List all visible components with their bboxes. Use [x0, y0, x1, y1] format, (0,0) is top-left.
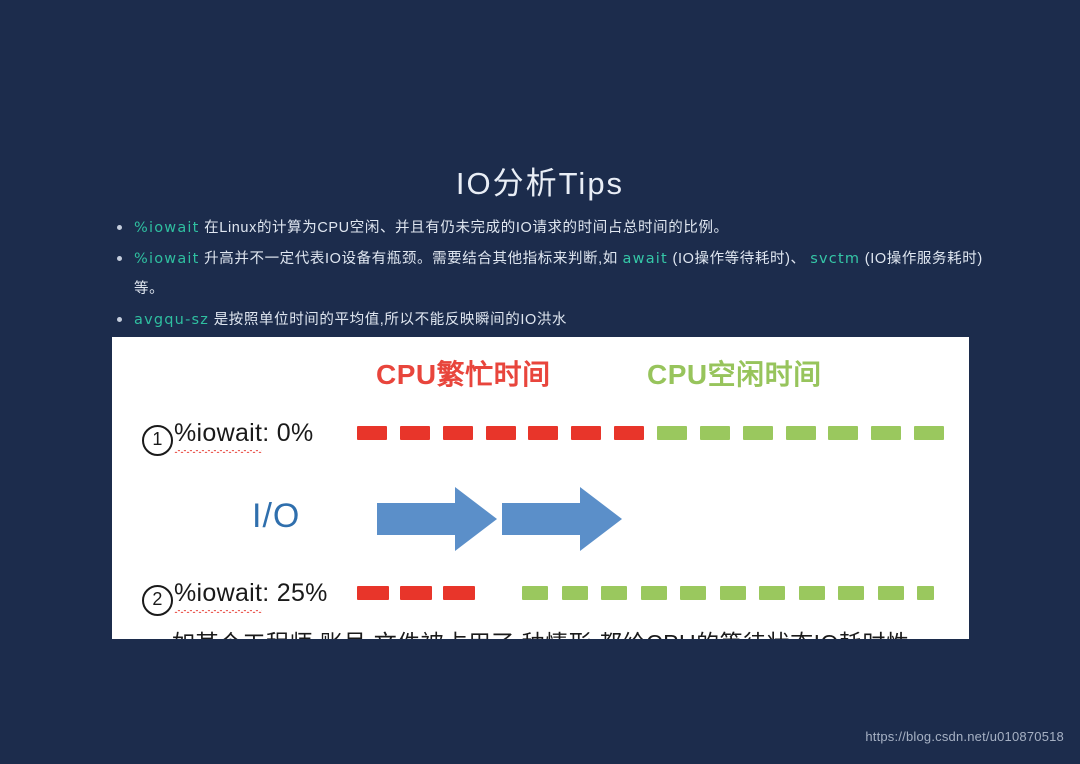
bullet-3-text: 是按照单位时间的平均值,所以不能反映瞬间的IO洪水	[209, 312, 567, 328]
dash-segment-idle	[914, 426, 944, 440]
row-1-value: 0%	[277, 419, 314, 447]
dash-segment-busy	[486, 426, 516, 440]
legend-cpu-busy: CPU繁忙时间	[376, 353, 551, 393]
list-item: avgqu-sz 是按照单位时间的平均值,所以不能反映瞬间的IO洪水	[112, 305, 992, 335]
code-token-iowait: %iowait	[134, 220, 200, 236]
dash-segment-busy	[357, 586, 389, 600]
figure-row-2-timeline	[357, 586, 957, 600]
dash-segment-busy	[357, 426, 387, 440]
dash-segment-idle	[601, 586, 627, 600]
figure-panel: CPU繁忙时间 CPU空闲时间 1%iowait: 0% I/O 2%iowai…	[112, 337, 969, 639]
row-1-metric: %iowait	[174, 419, 262, 448]
dash-segment-idle	[828, 426, 858, 440]
io-label: I/O	[252, 497, 300, 536]
list-item: %iowait 在Linux的计算为CPU空闲、并且有仍未完成的IO请求的时间占…	[112, 213, 992, 243]
code-token-iowait: %iowait	[134, 251, 200, 267]
code-token-await: await	[623, 251, 668, 267]
dash-segment-idle	[743, 426, 773, 440]
bullet-2-content: %iowait 升高并不一定代表IO设备有瓶颈。需要结合其他指标来判断,如 aw…	[134, 251, 983, 297]
bullet-dot-icon	[117, 256, 122, 261]
bullet-1-content: %iowait 在Linux的计算为CPU空闲、并且有仍未完成的IO请求的时间占…	[134, 220, 729, 236]
dash-segment-idle	[871, 426, 901, 440]
row-1-separator: :	[262, 419, 277, 447]
page-title: IO分析Tips	[0, 158, 1080, 203]
dash-segment-idle	[680, 586, 706, 600]
figure-row-2-label: 2%iowait: 25%	[142, 579, 328, 616]
watermark: https://blog.csdn.net/u010870518	[865, 729, 1064, 744]
dash-segment-busy	[443, 426, 473, 440]
dash-segment-busy	[614, 426, 644, 440]
code-token-svctm: svctm	[810, 251, 860, 267]
dash-segment-busy	[443, 586, 475, 600]
dash-segment-idle	[522, 586, 548, 600]
bullet-dot-icon	[117, 225, 122, 230]
dash-segment-busy	[528, 426, 558, 440]
dash-segment-busy	[400, 426, 430, 440]
bullet-1-text: 在Linux的计算为CPU空闲、并且有仍未完成的IO请求的时间占总时间的比例。	[200, 220, 729, 236]
figure-row-1-label: 1%iowait: 0%	[142, 419, 313, 456]
figure-clipped-text: 如某个工程师,账号,文件被占用了,种情形,都给CPU的等待状态IO耗时性	[172, 624, 932, 639]
row-2-number: 2	[142, 585, 173, 616]
dash-segment-idle	[878, 586, 904, 600]
bullet-list: %iowait 在Linux的计算为CPU空闲、并且有仍未完成的IO请求的时间占…	[112, 213, 992, 336]
dash-segment-idle	[759, 586, 785, 600]
dash-segment-idle	[700, 426, 730, 440]
dash-segment-idle	[641, 586, 667, 600]
bullet-2-text: 升高并不一定代表IO设备有瓶颈。需要结合其他指标来判断,如	[200, 251, 623, 267]
dash-segment-idle	[657, 426, 687, 440]
dash-segment-busy	[400, 586, 432, 600]
dash-segment-idle	[799, 586, 825, 600]
figure-row-1-timeline	[357, 426, 957, 440]
dash-segment-busy	[571, 426, 601, 440]
row-2-separator: :	[262, 579, 277, 607]
dash-segment-idle	[562, 586, 588, 600]
slide-canvas: IO分析Tips %iowait 在Linux的计算为CPU空闲、并且有仍未完成…	[0, 0, 1080, 764]
dash-segment-idle	[917, 586, 934, 600]
io-arrow-2-icon	[502, 487, 622, 551]
bullet-dot-icon	[117, 317, 122, 322]
dash-segment-idle	[786, 426, 816, 440]
bullet-2-text-b: (IO操作等待耗时)、	[668, 251, 810, 267]
legend-cpu-idle: CPU空闲时间	[647, 353, 822, 393]
row-1-number: 1	[142, 425, 173, 456]
dash-segment-idle	[838, 586, 864, 600]
dash-segment-idle	[720, 586, 746, 600]
row-2-metric: %iowait	[174, 579, 262, 608]
row-2-value: 25%	[277, 579, 328, 607]
bullet-3-content: avgqu-sz 是按照单位时间的平均值,所以不能反映瞬间的IO洪水	[134, 312, 567, 328]
io-arrow-1-icon	[377, 487, 497, 551]
code-token-avgqu-sz: avgqu-sz	[134, 312, 209, 328]
list-item: %iowait 升高并不一定代表IO设备有瓶颈。需要结合其他指标来判断,如 aw…	[112, 244, 992, 304]
figure-header: CPU繁忙时间 CPU空闲时间	[112, 349, 969, 395]
